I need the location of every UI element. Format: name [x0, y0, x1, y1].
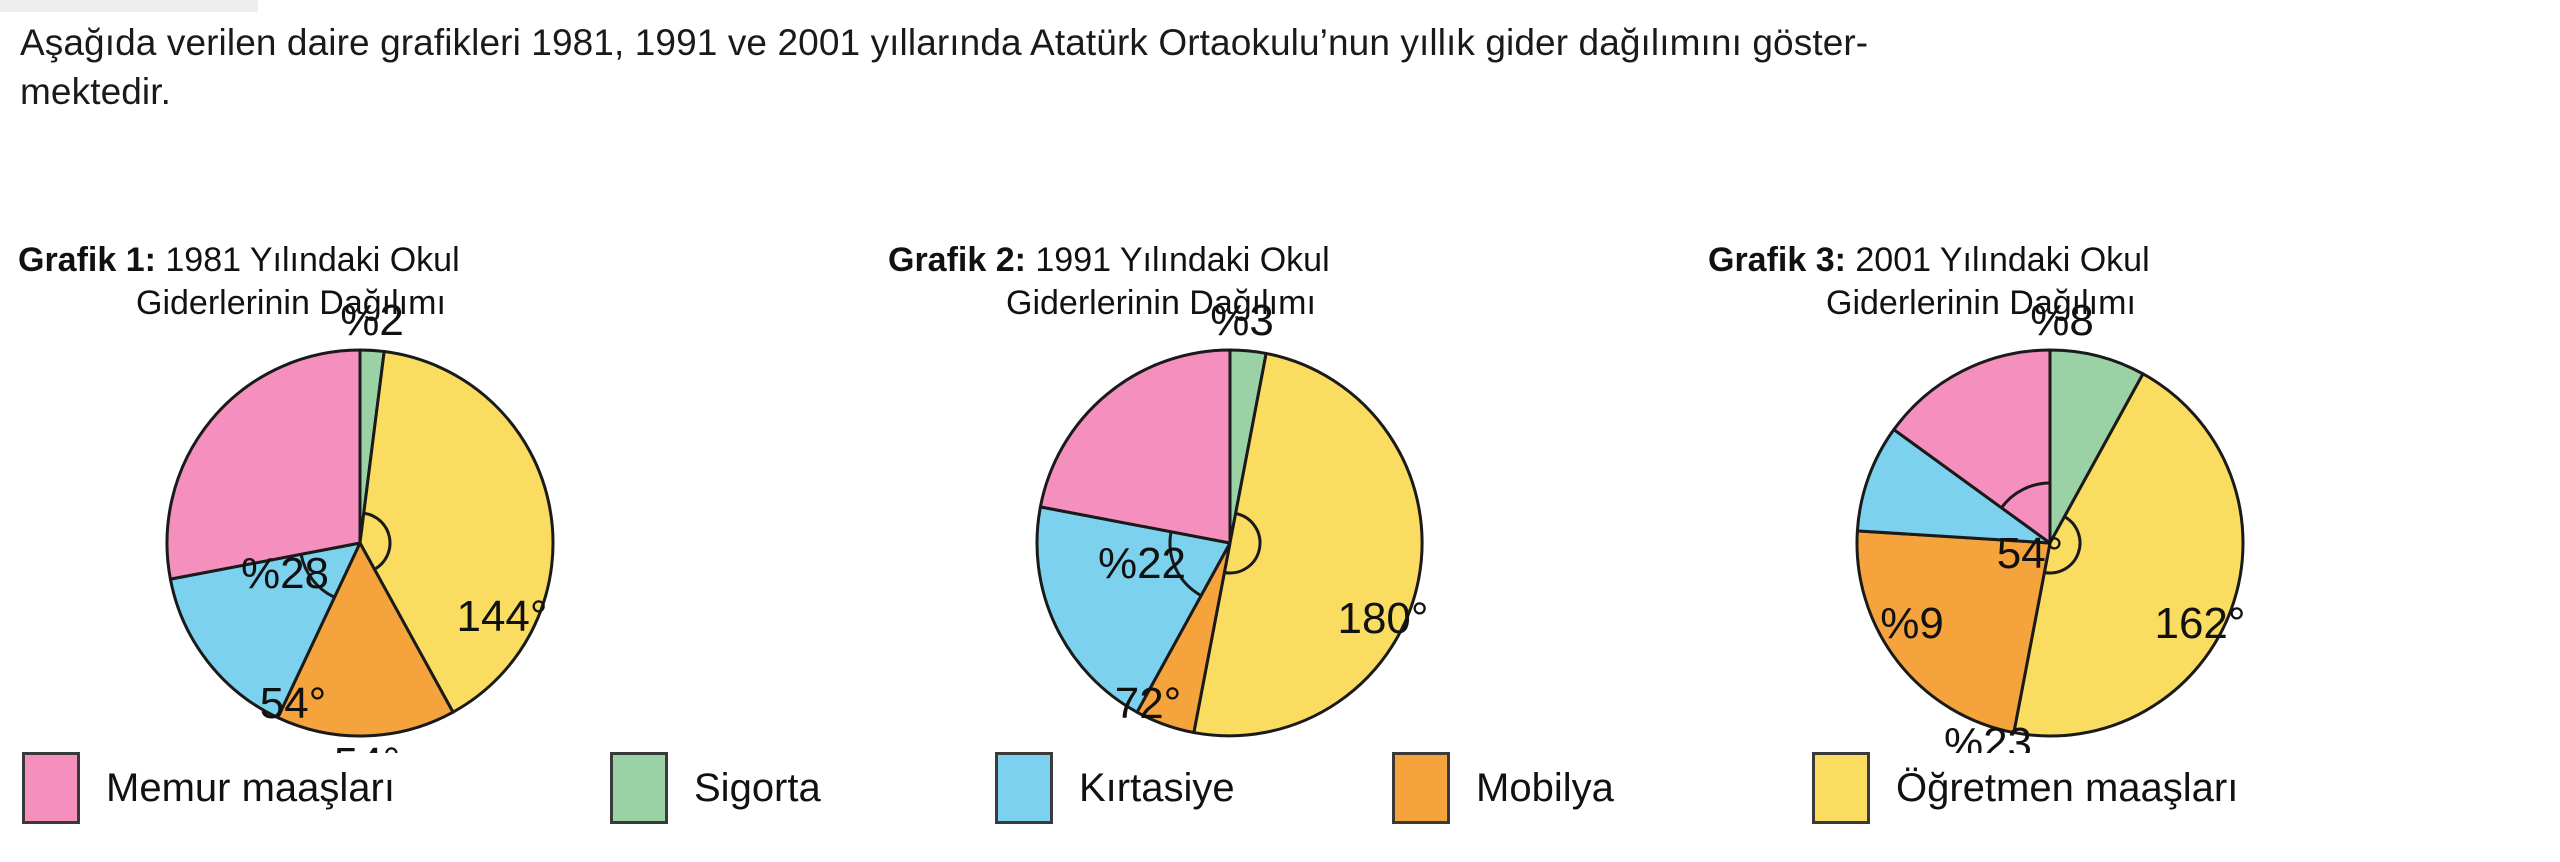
legend-item-sigorta: Sigorta — [610, 752, 821, 824]
legend-label-kirtasiye: Kırtasiye — [1079, 766, 1235, 811]
chart-block-3: Grafik 3: 2001 Yılındaki Okul Giderlerin… — [1700, 195, 2540, 755]
pie-chart-3: %854°%9%23162° — [1700, 293, 2540, 753]
pie-slice-label: 162° — [2154, 599, 2245, 648]
pie-slice-label: 180° — [1337, 594, 1428, 643]
chart-1-title-lead: Grafik 1: — [18, 241, 156, 279]
legend-swatch-sigorta — [610, 752, 668, 824]
pie-outside-label: %2 — [340, 296, 404, 345]
pie-slice-label: 54° — [260, 679, 327, 728]
pie-outside-label: %8 — [2030, 296, 2094, 345]
chart-1-pie-wrap: %2%2854°54°144° — [10, 293, 850, 753]
chart-1-title-line1: 1981 Yılındaki Okul — [156, 241, 460, 279]
legend-label-mobilya: Mobilya — [1476, 766, 1614, 811]
pie-outside-label: %3 — [1210, 296, 1274, 345]
chart-3-title-lead: Grafik 3: — [1708, 241, 1846, 279]
legend-label-memur-maaslari: Memur maaşları — [106, 766, 395, 811]
pie-slice-label: %23 — [1944, 719, 2032, 753]
pie-slice-label: 54° — [1997, 529, 2064, 578]
legend-item-memur-maaslari: Memur maaşları — [22, 752, 395, 824]
pie-slice-label: %28 — [241, 549, 329, 598]
pie-slice-label: 144° — [456, 592, 547, 641]
legend-swatch-mobilya — [1392, 752, 1450, 824]
legend-swatch-memur-maaslari — [22, 752, 80, 824]
pie-slice-label: 54° — [334, 739, 401, 753]
intro-paragraph: Aşağıda verilen daire grafikleri 1981, 1… — [20, 18, 2520, 116]
pie-chart-2: %3%2272°18°180° — [880, 293, 1720, 753]
legend-item-ogretmen-maaslari: Öğretmen maaşları — [1812, 752, 2238, 824]
legend-label-ogretmen-maaslari: Öğretmen maaşları — [1896, 766, 2238, 811]
legend: Memur maaşları Sigorta Kırtasiye Mobilya… — [0, 752, 2560, 852]
pie-slice-label: 72° — [1115, 679, 1182, 728]
pie-slice-label: %9 — [1880, 599, 1944, 648]
chart-3-title-line1: 2001 Yılındaki Okul — [1846, 241, 2150, 279]
legend-label-sigorta: Sigorta — [694, 766, 821, 811]
chart-block-1: Grafik 1: 1981 Yılındaki Okul Giderlerin… — [10, 195, 850, 755]
pie-slice-label: %22 — [1098, 539, 1186, 588]
pie-slice-memur-maa-lar- — [167, 350, 360, 579]
chart-block-2: Grafik 2: 1991 Yılındaki Okul Giderlerin… — [880, 195, 1720, 755]
intro-line-1: Aşağıda verilen daire grafikleri 1981, 1… — [20, 18, 2520, 67]
legend-swatch-kirtasiye — [995, 752, 1053, 824]
intro-line-2: mektedir. — [20, 67, 2520, 116]
legend-swatch-ogretmen-maaslari — [1812, 752, 1870, 824]
pie-chart-1: %2%2854°54°144° — [10, 293, 850, 753]
legend-item-kirtasiye: Kırtasiye — [995, 752, 1235, 824]
page-corner-tab — [0, 0, 258, 12]
chart-2-title-line1: 1991 Yılındaki Okul — [1026, 241, 1330, 279]
chart-2-title-lead: Grafik 2: — [888, 241, 1026, 279]
chart-2-pie-wrap: %3%2272°18°180° — [880, 293, 1720, 753]
chart-3-pie-wrap: %854°%9%23162° — [1700, 293, 2540, 753]
charts-row: Grafik 1: 1981 Yılındaki Okul Giderlerin… — [0, 195, 2560, 755]
legend-item-mobilya: Mobilya — [1392, 752, 1614, 824]
